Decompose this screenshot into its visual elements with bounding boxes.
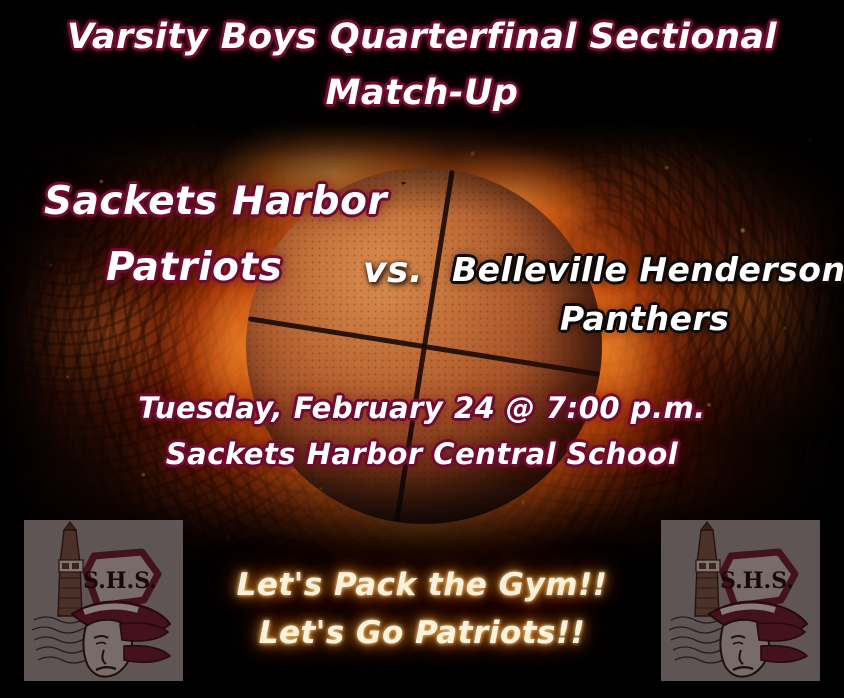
shs-emblem-icon: S.H.S.	[24, 520, 183, 681]
shield-icon: S.H.S.	[720, 552, 795, 606]
lighthouse-icon	[695, 522, 720, 616]
basketball-seam-curve-left	[246, 168, 406, 178]
school-logo-left: S.H.S.	[24, 520, 183, 681]
shs-emblem-icon: S.H.S.	[661, 520, 820, 681]
shield-initials: S.H.S.	[720, 568, 794, 594]
basketball-game-poster: Varsity Boys Quarterfinal Sectional Matc…	[0, 0, 844, 698]
event-datetime: Tuesday, February 24 @ 7:00 p.m.	[0, 394, 844, 423]
versus-label: vs.	[363, 253, 423, 289]
away-team-name-line-1: Belleville Henderson	[452, 253, 844, 286]
event-venue: Sackets Harbor Central School	[0, 440, 844, 469]
home-team-mascot: Patriots	[0, 248, 282, 287]
poster-title-line-2: Match-Up	[0, 76, 844, 111]
shield-initials: S.H.S.	[83, 568, 157, 594]
home-team-name-line-1: Sackets Harbor	[0, 182, 387, 221]
away-team-mascot: Panthers	[560, 302, 729, 335]
lighthouse-icon	[58, 522, 83, 616]
poster-title-line-1: Varsity Boys Quarterfinal Sectional	[0, 20, 844, 55]
school-logo-right: S.H.S.	[661, 520, 820, 681]
shield-icon: S.H.S.	[83, 552, 158, 606]
